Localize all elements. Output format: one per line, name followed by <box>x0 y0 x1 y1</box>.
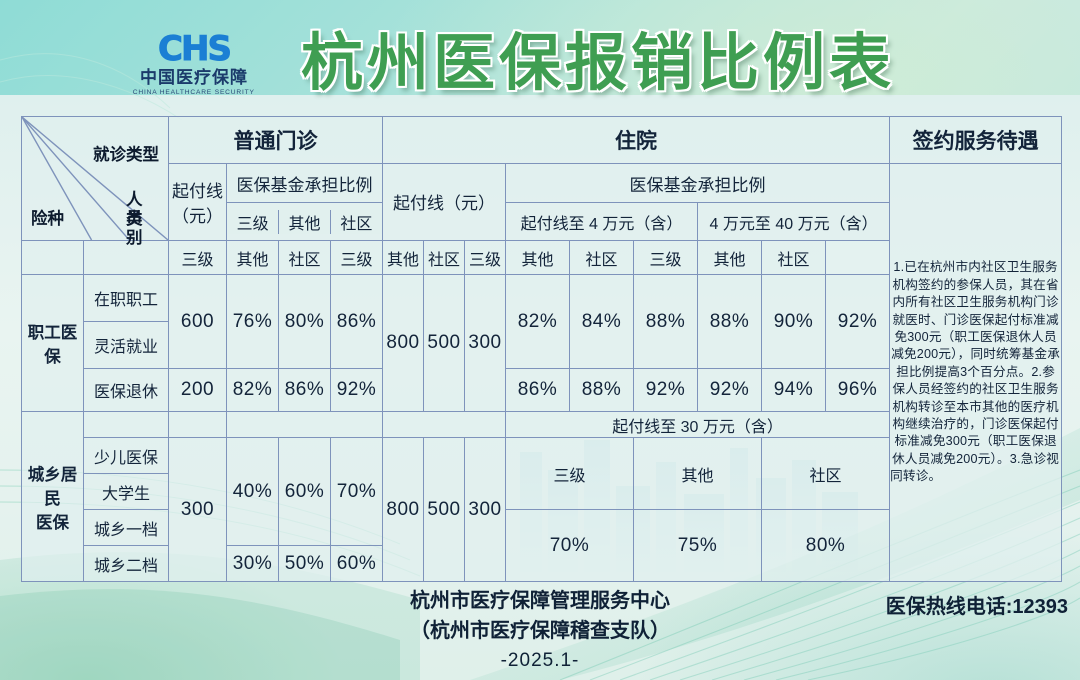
page-header: CHS 中国医疗保障 CHINA HEALTHCARE SECURITY 杭州医… <box>0 0 1080 112</box>
cell-retired-op-deductible: 200 <box>169 369 227 412</box>
resident-ip-level-community: 社区 <box>762 438 890 510</box>
row-label-university-students: 大学生 <box>84 474 169 510</box>
corner-insurance-type-label: 险种 <box>31 205 64 229</box>
resident-tier-head-pad-ded <box>169 412 227 438</box>
resident-tier-head-pad-ipded <box>383 412 506 438</box>
footer-organization: 杭州市医疗保障管理服务中心 （杭州市医疗保障稽查支队） -2025.1- <box>280 586 800 676</box>
ip-a-level-other: 其他 <box>506 241 570 275</box>
resident-ip-level-other: 其他 <box>634 438 762 510</box>
cell-retired-op-community: 92% <box>331 369 383 412</box>
cell-retired-ip-b-l3: 92% <box>698 369 762 412</box>
cell-resident-op-l3: 40% <box>227 438 279 546</box>
cell-retired-ip-b-community: 96% <box>826 369 890 412</box>
cell-active-op-deductible: 600 <box>169 275 227 369</box>
cell-retired-ip-a-l3: 86% <box>506 369 570 412</box>
subheader-op-levels-spacer: 三级 其他 社区 <box>227 203 383 241</box>
row-label-urban-rural-tier2: 城乡二档 <box>84 546 169 582</box>
subheader-inpatient-fund-ratio: 医保基金承担比例 <box>506 163 890 202</box>
cell-active-ip-b-l3: 88% <box>698 275 762 369</box>
cell-emp-ip-deductible-community: 300 <box>465 275 506 412</box>
cell-active-op-l3: 76% <box>227 275 279 369</box>
ip-b-level-community: 社区 <box>762 241 826 275</box>
corner-header-cell: 就诊类型 人员类别 险种 <box>22 117 169 241</box>
resident-label-line1: 城乡居民 <box>28 466 78 508</box>
cell-active-ip-a-community: 88% <box>634 275 698 369</box>
logo-en-name: CHINA HEALTHCARE SECURITY <box>133 88 255 97</box>
chs-logo: CHS 中国医疗保障 CHINA HEALTHCARE SECURITY <box>132 26 256 102</box>
op-level-l3: 三级 <box>169 241 227 275</box>
op-level-row-pad-a <box>22 241 84 275</box>
ip-b-level-l3: 三级 <box>634 241 698 275</box>
subheader-inpatient-deductible: 起付线（元） <box>383 163 506 240</box>
op-level-l3-head: 三级 <box>227 210 279 234</box>
ip-b-level-other: 其他 <box>698 241 762 275</box>
footer-org-line1: 杭州市医疗保障管理服务中心 <box>280 586 800 616</box>
ip-a-level-l3: 三级 <box>465 241 506 275</box>
op-level-other-head: 其他 <box>279 210 331 234</box>
cell-retired-op-l3: 82% <box>227 369 279 412</box>
cell-resident-op-other: 60% <box>279 438 331 546</box>
cell-resident2-op-other: 50% <box>279 546 331 582</box>
cell-resident-ip-l3: 70% <box>506 510 634 582</box>
resident-tier-head-pad-ratio <box>227 412 383 438</box>
subheader-inpatient-tier-b: 4 万元至 40 万元（含） <box>698 203 890 241</box>
cell-resident-ip-other: 75% <box>634 510 762 582</box>
op-level-community-head: 社区 <box>330 210 382 234</box>
cell-resident2-op-l3: 30% <box>227 546 279 582</box>
row-label-resident-insurance: 城乡居民 医保 <box>22 412 84 582</box>
contract-service-notes: 1.已在杭州市内社区卫生服务机构签约的参保人员，其在省内所有社区卫生服务机构门诊… <box>890 163 1062 581</box>
cell-retired-ip-a-other: 88% <box>570 369 634 412</box>
row-label-flexible-employment: 灵活就业 <box>84 322 169 369</box>
cell-resident-ip-deductible-other: 500 <box>424 438 465 582</box>
table-header-row-groups: 就诊类型 人员类别 险种 普通门诊 住院 签约服务待遇 <box>22 117 1062 164</box>
cell-active-ip-b-community: 92% <box>826 275 890 369</box>
cell-resident2-op-community: 60% <box>331 546 383 582</box>
subheader-outpatient-fund-ratio: 医保基金承担比例 <box>227 163 383 202</box>
ip-ded-level-other: 其他 <box>383 241 424 275</box>
cell-active-op-community: 86% <box>331 275 383 369</box>
cell-emp-ip-deductible-other: 500 <box>424 275 465 412</box>
corner-visit-type-label: 就诊类型 <box>93 141 159 165</box>
cell-active-op-other: 80% <box>279 275 331 369</box>
row-label-retired: 医保退休 <box>84 369 169 412</box>
resident-tier-head-pad-cat <box>84 412 169 438</box>
cell-resident-ip-community: 80% <box>762 510 890 582</box>
logo-mark: CHS <box>158 32 230 66</box>
cell-resident-op-deductible: 300 <box>169 438 227 582</box>
ip-ded-level-l3: 三级 <box>331 241 383 275</box>
cell-active-ip-a-other: 84% <box>570 275 634 369</box>
subheader-inpatient-tier-a: 起付线至 4 万元（含） <box>506 203 698 241</box>
footer-hotline: 医保热线电话:12393 <box>886 590 1068 619</box>
cell-active-ip-b-other: 90% <box>762 275 826 369</box>
cell-resident-ip-deductible-community: 300 <box>465 438 506 582</box>
reimbursement-table: 就诊类型 人员类别 险种 普通门诊 住院 签约服务待遇 起付线（元） 医保基金承… <box>21 116 1061 582</box>
logo-cn-name: 中国医疗保障 <box>140 68 248 88</box>
group-header-contract: 签约服务待遇 <box>890 117 1062 164</box>
cell-resident-op-community: 70% <box>331 438 383 546</box>
page-footer: 杭州市医疗保障管理服务中心 （杭州市医疗保障稽查支队） -2025.1- 医保热… <box>0 586 1080 680</box>
op-level-community: 社区 <box>279 241 331 275</box>
group-header-outpatient: 普通门诊 <box>169 117 383 164</box>
cell-retired-op-other: 86% <box>279 369 331 412</box>
subheader-resident-tier: 起付线至 30 万元（含） <box>506 412 890 438</box>
op-level-other: 其他 <box>227 241 279 275</box>
footer-org-line2: （杭州市医疗保障稽查支队） <box>280 616 800 646</box>
row-label-active-employee: 在职职工 <box>84 275 169 322</box>
cell-retired-ip-a-community: 92% <box>634 369 698 412</box>
ip-a-level-community: 社区 <box>570 241 634 275</box>
cell-retired-ip-b-other: 94% <box>762 369 826 412</box>
group-header-inpatient: 住院 <box>383 117 890 164</box>
cell-active-ip-a-l3: 82% <box>506 275 570 369</box>
cell-emp-ip-deductible-l3: 800 <box>383 275 424 412</box>
table-header-row-sub: 起付线（元） 医保基金承担比例 起付线（元） 医保基金承担比例 1.已在杭州市内… <box>22 163 1062 202</box>
ip-ded-level-community: 社区 <box>424 241 465 275</box>
resident-ip-level-l3: 三级 <box>506 438 634 510</box>
resident-label-line2: 医保 <box>36 514 69 532</box>
row-label-children-insurance: 少儿医保 <box>84 438 169 474</box>
cell-resident-ip-deductible-l3: 800 <box>383 438 424 582</box>
row-label-employee-insurance: 职工医保 <box>22 275 84 412</box>
footer-date: -2025.1- <box>280 646 800 676</box>
subheader-outpatient-deductible: 起付线（元） <box>169 163 227 240</box>
page-title: 杭州医保报销比例表 <box>288 22 908 106</box>
row-label-urban-rural-tier1: 城乡一档 <box>84 510 169 546</box>
